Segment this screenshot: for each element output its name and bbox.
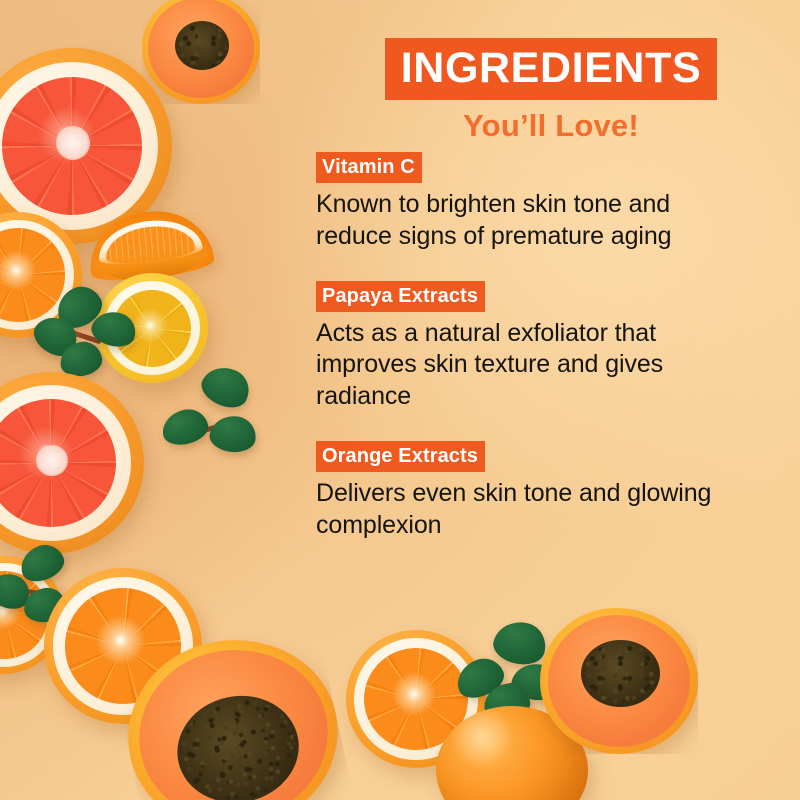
ingredient-section-vitamin-c: Vitamin C Known to brighten skin tone an… — [316, 152, 756, 253]
ingredient-badge-papaya-extracts: Papaya Extracts — [316, 281, 485, 312]
leaf-sprig-upper-icon — [36, 290, 146, 382]
ingredient-sections: Vitamin C Known to brighten skin tone an… — [316, 152, 756, 541]
ingredient-section-orange-extracts: Orange Extracts Delivers even skin tone … — [316, 441, 756, 542]
grapefruit-slice-middle-icon — [0, 372, 144, 554]
ingredient-badge-vitamin-c: Vitamin C — [316, 152, 422, 183]
ingredient-description-orange-extracts: Delivers even skin tone and glowing comp… — [316, 478, 746, 542]
page-title: INGREDIENTS — [385, 38, 717, 100]
title-block: INGREDIENTS You’ll Love! — [316, 38, 786, 143]
leaf-sprig-middle-icon — [158, 372, 274, 466]
ingredient-badge-orange-extracts: Orange Extracts — [316, 441, 485, 472]
content-panel: INGREDIENTS You’ll Love! Vitamin C Known… — [316, 0, 786, 800]
ingredient-section-papaya-extracts: Papaya Extracts Acts as a natural exfoli… — [316, 281, 756, 413]
page-subtitle: You’ll Love! — [316, 109, 786, 143]
ingredients-poster: INGREDIENTS You’ll Love! Vitamin C Known… — [0, 0, 800, 800]
ingredient-description-papaya-extracts: Acts as a natural exfoliator that improv… — [316, 318, 746, 413]
ingredient-description-vitamin-c: Known to brighten skin tone and reduce s… — [316, 189, 746, 253]
papaya-half-top-icon — [142, 0, 260, 104]
